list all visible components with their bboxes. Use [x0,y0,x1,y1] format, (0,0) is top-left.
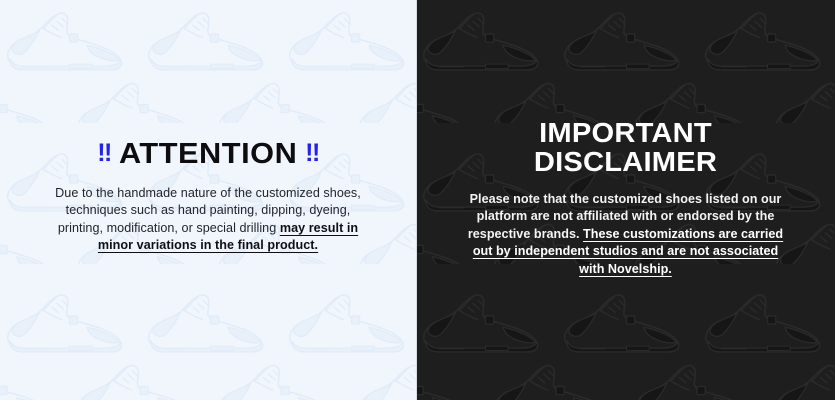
disclaimer-body: Please note that the customized shoes li… [461,191,791,278]
exclamation-right-icon: !! [305,141,319,166]
attention-title: ATTENTION [119,140,297,169]
attention-body: Due to the handmade nature of the custom… [48,185,368,254]
disclaimer-banner: !! ATTENTION !! Due to the handmade natu… [0,0,835,400]
exclamation-left-icon: !! [97,141,111,166]
attention-panel-content: !! ATTENTION !! Due to the handmade natu… [0,140,416,254]
panel-divider [416,0,417,400]
disclaimer-panel-content: IMPORTANT DISCLAIMER Please note that th… [416,118,835,278]
disclaimer-title-line2: DISCLAIMER [437,147,815,176]
disclaimer-panel: IMPORTANT DISCLAIMER Please note that th… [416,0,835,400]
disclaimer-heading: IMPORTANT DISCLAIMER [437,118,815,176]
attention-panel: !! ATTENTION !! Due to the handmade natu… [0,0,416,400]
disclaimer-title-line1: IMPORTANT [437,118,815,147]
attention-heading: !! ATTENTION !! [30,140,386,169]
